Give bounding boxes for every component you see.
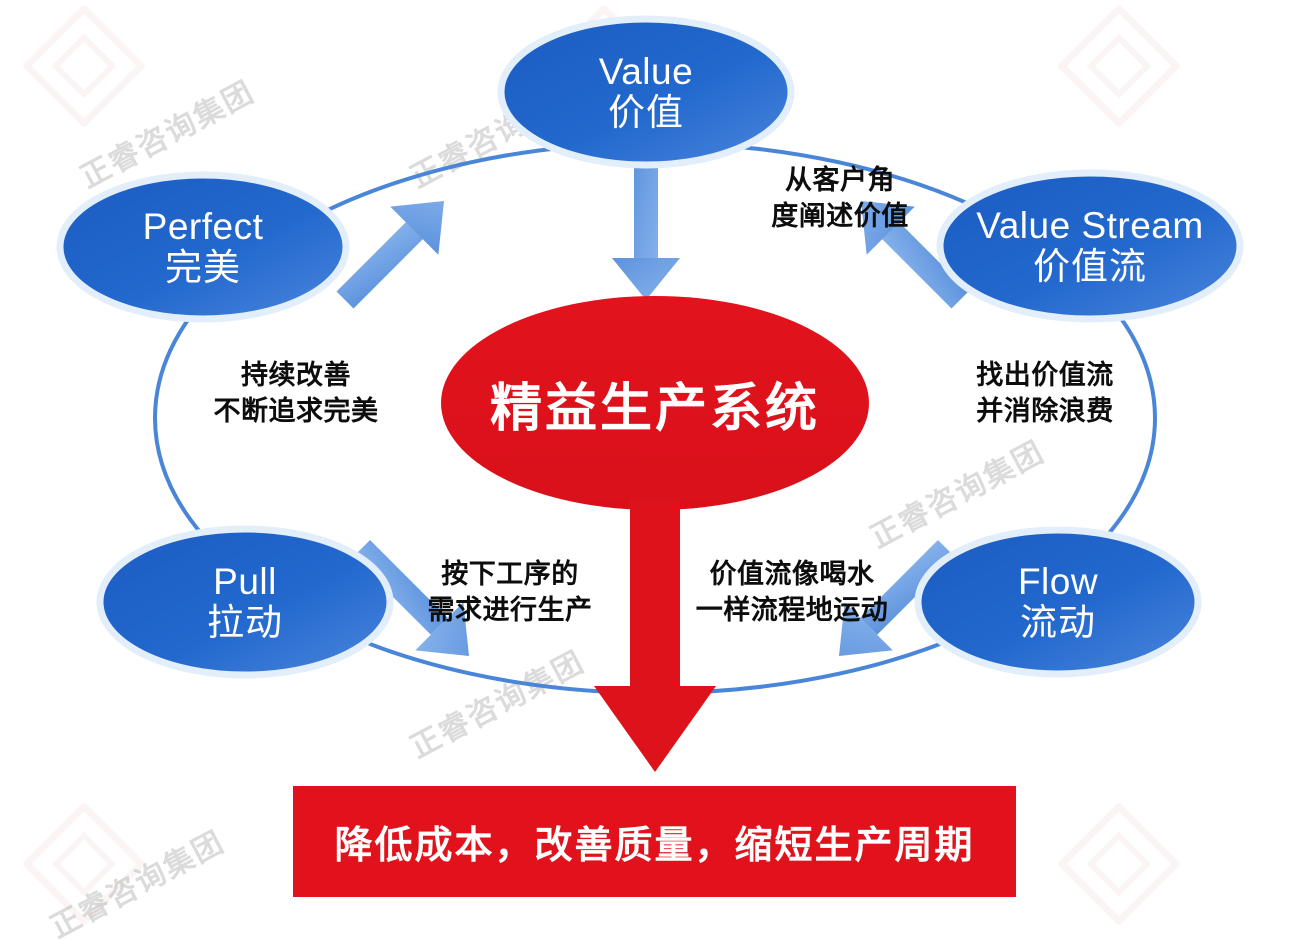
note-value-stream-line2: 并消除浪费 xyxy=(940,394,1150,430)
outcome-banner-text: 降低成本，改善质量，缩短生产周期 xyxy=(293,786,1016,897)
note-value-stream-line1: 找出价值流 xyxy=(940,358,1150,394)
node-perfect-ellipse xyxy=(60,175,346,319)
diagram-canvas: 正睿咨询集团 正睿咨询集团 正睿咨询集团 正睿咨询集团 正睿咨询集团 xyxy=(0,0,1300,952)
note-perfect-line2: 不断追求完美 xyxy=(180,394,412,430)
arrow-center-to-banner xyxy=(594,500,716,772)
node-pull-ellipse xyxy=(100,529,390,675)
note-perfect-line1: 持续改善 xyxy=(180,358,412,394)
note-value-line2: 度阐述价值 xyxy=(745,199,935,235)
node-value-stream-ellipse xyxy=(940,173,1240,319)
center-node-title[interactable]: 精益生产系统 xyxy=(441,296,869,510)
note-flow-line2: 一样流程地运动 xyxy=(672,593,912,629)
note-value-stream: 找出价值流 并消除浪费 xyxy=(940,358,1150,429)
node-value-ellipse xyxy=(501,19,791,165)
arrow-value-to-center xyxy=(612,150,680,300)
note-value: 从客户角 度阐述价值 xyxy=(745,163,935,234)
note-perfect: 持续改善 不断追求完美 xyxy=(180,358,412,429)
note-flow: 价值流像喝水 一样流程地运动 xyxy=(672,557,912,628)
note-pull: 按下工序的 需求进行生产 xyxy=(404,557,616,628)
note-flow-line1: 价值流像喝水 xyxy=(672,557,912,593)
node-flow-ellipse xyxy=(918,530,1198,674)
note-pull-line2: 需求进行生产 xyxy=(404,593,616,629)
note-value-line1: 从客户角 xyxy=(745,163,935,199)
note-pull-line1: 按下工序的 xyxy=(404,557,616,593)
